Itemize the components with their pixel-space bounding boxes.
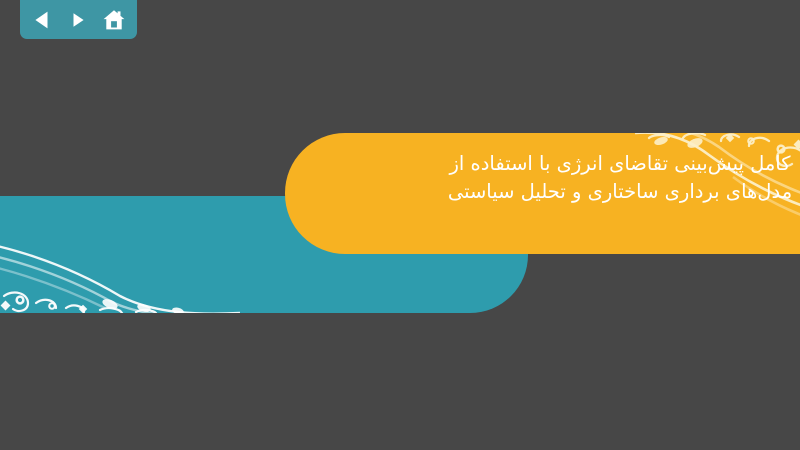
home-icon[interactable] bbox=[102, 8, 126, 32]
title-line-1: کامل پیش‌بینی تقاضای انرژی با استفاده از bbox=[395, 150, 800, 178]
forward-icon[interactable] bbox=[69, 11, 87, 29]
back-icon[interactable] bbox=[32, 9, 54, 31]
title-line-2: مدل‌های برداری ساختاری و تحلیل سیاستی bbox=[395, 178, 800, 206]
title-banner: کامل پیش‌بینی تقاضای انرژی با استفاده از… bbox=[285, 133, 800, 254]
page-title: کامل پیش‌بینی تقاضای انرژی با استفاده از… bbox=[395, 150, 800, 206]
navigation-bar bbox=[20, 0, 137, 39]
slide-canvas: کامل پیش‌بینی تقاضای انرژی با استفاده از… bbox=[0, 0, 800, 450]
accent-band-ornament-icon bbox=[0, 196, 260, 313]
